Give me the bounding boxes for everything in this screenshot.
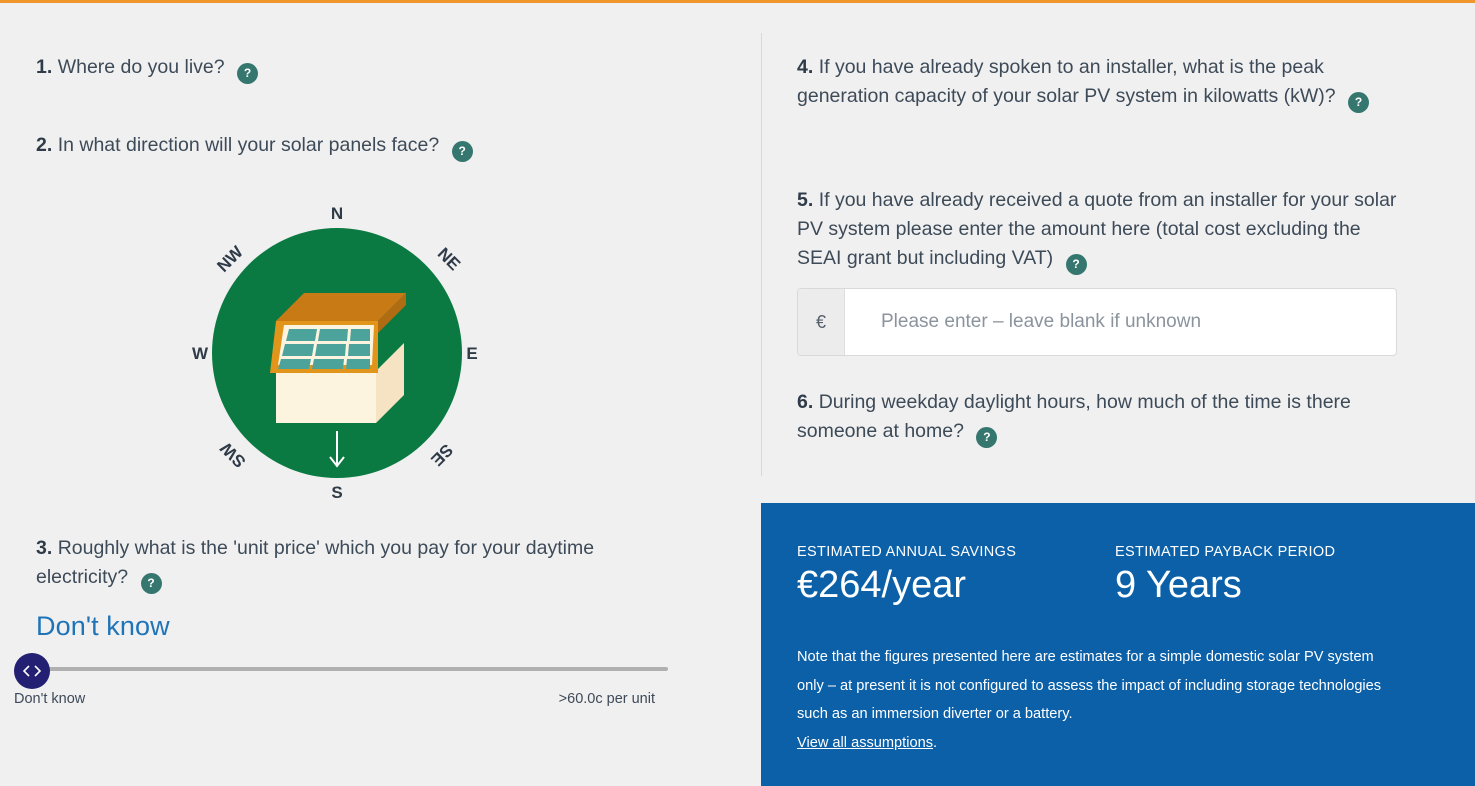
left-right-chevrons-icon [21,663,43,679]
question-4-label: If you have already spoken to an install… [797,56,1336,107]
unit-price-slider[interactable] [14,653,656,689]
question-2-number: 2. [36,134,52,156]
question-5-number: 5. [797,189,813,211]
question-2: 2. In what direction will your solar pan… [36,131,716,162]
results-note: Note that the figures presented here are… [797,643,1397,757]
question-1-number: 1. [36,56,52,78]
house-front-wall [276,371,376,423]
slider-max-label: >60.0c per unit [350,691,655,707]
help-icon[interactable]: ? [1348,92,1369,113]
savings-value: €264/year [797,566,1016,606]
question-1-label: Where do you live? [58,56,225,78]
help-icon[interactable]: ? [237,63,258,84]
estimated-payback-period: ESTIMATED PAYBACK PERIOD 9 Years [1115,544,1335,606]
left-column: 1. Where do you live? ? 2. In what direc… [0,3,761,786]
estimated-annual-savings: ESTIMATED ANNUAL SAVINGS €264/year [797,544,1016,606]
question-6-number: 6. [797,391,813,413]
question-3: 3. Roughly what is the 'unit price' whic… [36,534,616,594]
compass-direction-selector[interactable]: N NE E SE S SW W NW [180,193,500,513]
compass-label-e[interactable]: E [466,344,477,363]
question-3-number: 3. [36,537,52,559]
slider-current-value: Don't know [36,611,170,642]
question-4-number: 4. [797,56,813,78]
solar-panel-grid [278,329,370,369]
results-panel: ESTIMATED ANNUAL SAVINGS €264/year ESTIM… [761,503,1475,786]
slider-min-label: Don't know [14,691,85,707]
page-body: 1. Where do you live? ? 2. In what direc… [0,3,1475,786]
help-icon[interactable]: ? [141,573,162,594]
question-1: 1. Where do you live? ? [36,53,716,84]
compass-label-s[interactable]: S [331,483,342,502]
compass-label-sw[interactable]: SW [216,438,249,471]
question-3-label: Roughly what is the 'unit price' which y… [36,537,594,588]
compass-label-nw[interactable]: NW [213,242,247,276]
compass-svg[interactable]: N NE E SE S SW W NW [180,193,500,513]
question-5: 5. If you have already received a quote … [797,186,1402,275]
slider-track[interactable] [34,667,668,671]
question-5-label: If you have already received a quote fro… [797,189,1396,269]
payback-label: ESTIMATED PAYBACK PERIOD [1115,544,1335,560]
quote-amount-input[interactable] [845,289,1396,355]
help-icon[interactable]: ? [976,427,997,448]
compass-label-se[interactable]: SE [427,440,456,469]
question-2-label: In what direction will your solar panels… [58,134,440,156]
compass-label-n[interactable]: N [331,204,343,223]
results-link-suffix: . [933,735,937,751]
slider-handle[interactable] [14,653,50,689]
view-all-assumptions-link[interactable]: View all assumptions [797,735,933,751]
compass-label-ne[interactable]: NE [434,244,464,274]
help-icon[interactable]: ? [1066,254,1087,275]
quote-amount-field-group[interactable]: € [797,288,1397,356]
compass-label-w[interactable]: W [192,344,209,363]
question-6: 6. During weekday daylight hours, how mu… [797,388,1382,448]
payback-value: 9 Years [1115,566,1335,606]
savings-label: ESTIMATED ANNUAL SAVINGS [797,544,1016,560]
help-icon[interactable]: ? [452,141,473,162]
results-note-text: Note that the figures presented here are… [797,649,1381,722]
question-6-label: During weekday daylight hours, how much … [797,391,1351,442]
question-4: 4. If you have already spoken to an inst… [797,53,1402,113]
currency-prefix: € [798,289,845,355]
